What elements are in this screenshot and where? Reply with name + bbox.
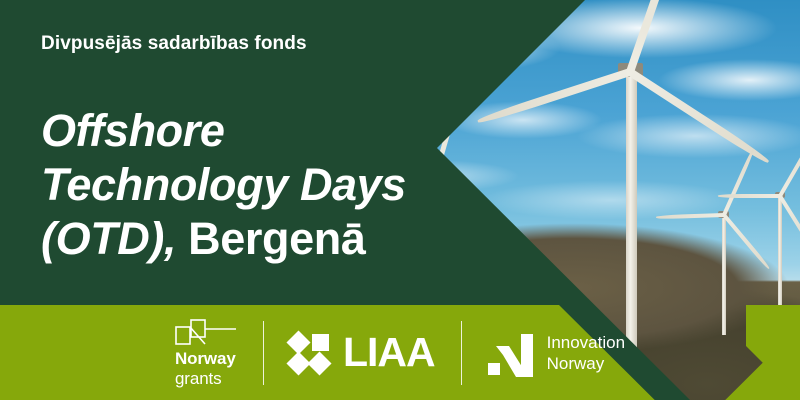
- logo-norway-grants: Norway grants: [175, 319, 237, 387]
- logo-row: Norway grants LIAA Innov: [0, 305, 800, 400]
- liaa-wordmark: LIAA: [343, 332, 435, 373]
- logo-divider: [461, 321, 462, 385]
- logo-liaa: LIAA: [290, 332, 435, 374]
- innovation-norway-dot-n-icon: [488, 329, 534, 377]
- innovation-norway-line2: Norway: [547, 353, 625, 374]
- page-title: Offshore Technology Days (OTD), Bergenā: [41, 104, 471, 266]
- norway-grants-line1: Norway: [175, 350, 236, 367]
- innovation-norway-wordmark: Innovation Norway: [547, 332, 625, 374]
- headline-roman: Bergenā: [176, 213, 365, 264]
- logo-innovation-norway: Innovation Norway: [488, 329, 625, 377]
- eyebrow-text: Divpusējās sadarbības fonds: [41, 33, 307, 55]
- liaa-diamonds-icon: [290, 332, 332, 374]
- norway-grants-line2: grants: [175, 370, 222, 387]
- innovation-norway-line1: Innovation: [547, 332, 625, 353]
- logo-divider: [263, 321, 264, 385]
- norway-grants-n-mark-icon: [175, 319, 237, 345]
- event-banner: Divpusējās sadarbības fonds Offshore Tec…: [0, 0, 800, 400]
